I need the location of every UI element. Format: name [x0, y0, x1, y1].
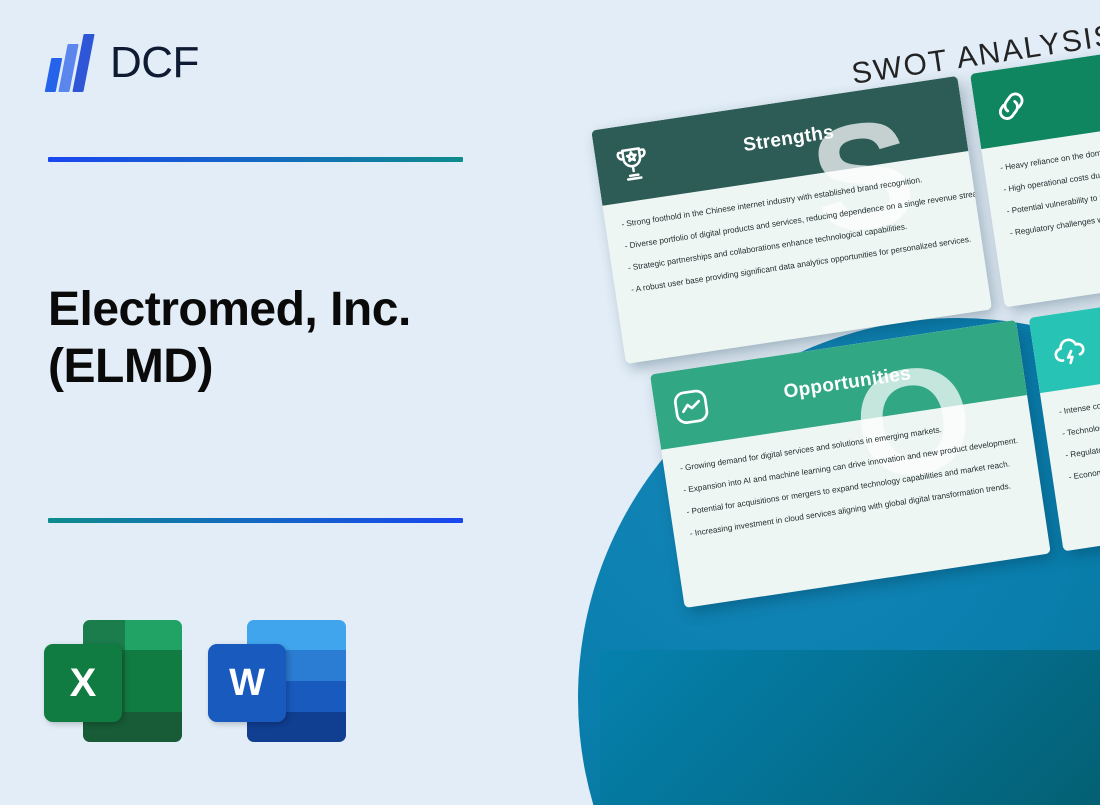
- storm-cloud-icon: [1047, 327, 1092, 372]
- excel-badge-letter: X: [44, 644, 122, 722]
- swot-panel-strengths: Strengths S Strong foothold in the Chine…: [591, 76, 992, 364]
- brand-logo[interactable]: DCF: [48, 34, 199, 92]
- word-file-icon[interactable]: W: [208, 620, 346, 742]
- logo-bar-3: [72, 34, 94, 92]
- brand-name: DCF: [110, 38, 199, 88]
- dcf-bars-logo-icon: [48, 34, 96, 92]
- swot-panel-opportunities: Opportunities O Growing demand for digit…: [650, 320, 1051, 608]
- divider-bottom: [48, 518, 463, 523]
- divider-top: [48, 157, 463, 162]
- chain-link-icon: [988, 83, 1033, 128]
- decorative-corner-fill: [600, 650, 1100, 805]
- swot-analysis-cover-page: DCF Electromed, Inc. (ELMD) X W SWOT ANA…: [0, 0, 1100, 805]
- panel-title-threats: Threats: [1088, 292, 1100, 358]
- trend-chart-icon: [668, 384, 713, 429]
- page-title: Electromed, Inc. (ELMD): [48, 282, 518, 395]
- swot-panel-grid: Strengths S Strong foothold in the Chine…: [591, 39, 1100, 635]
- trophy-icon: [610, 140, 655, 185]
- word-badge-letter: W: [208, 644, 286, 722]
- download-icons: X W: [44, 620, 346, 742]
- excel-file-icon[interactable]: X: [44, 620, 182, 742]
